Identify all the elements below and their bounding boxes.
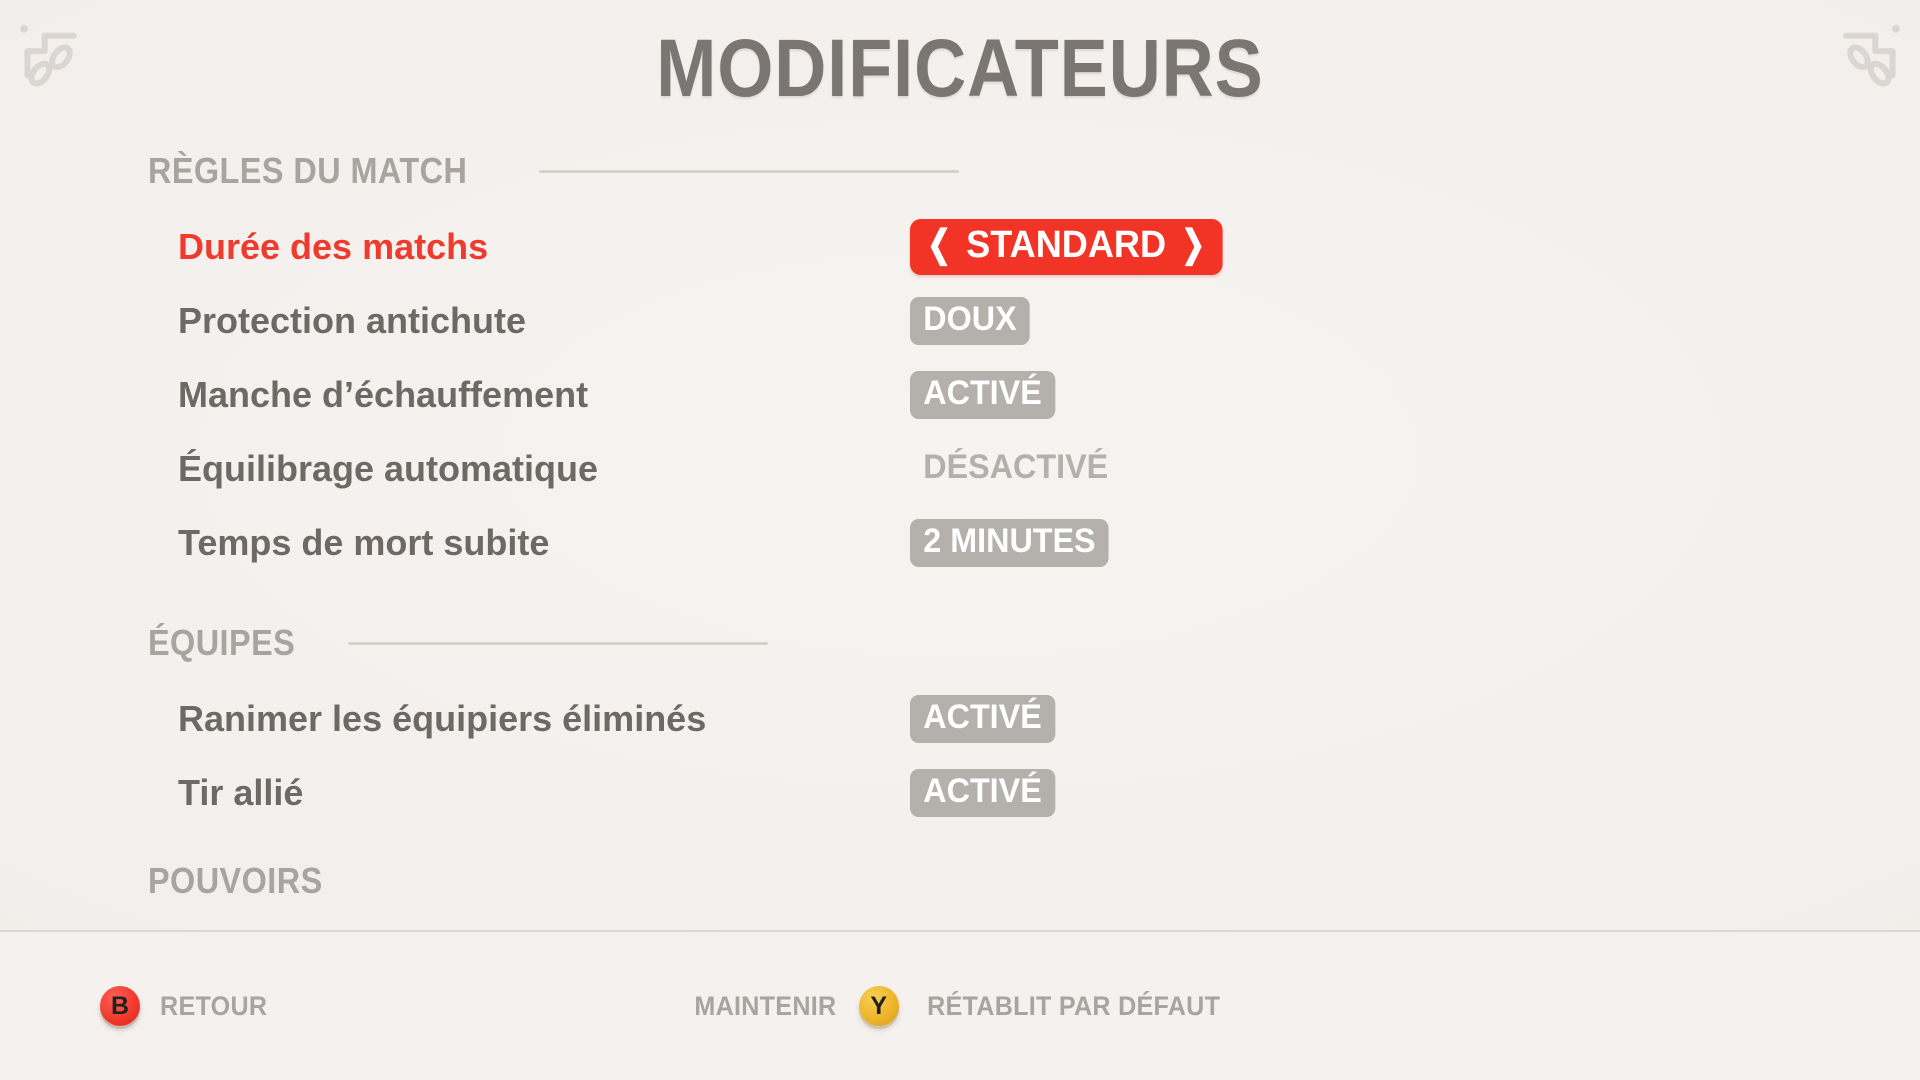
setting-row-warmup-round[interactable]: Manche d’échauffement ACTIVÉ bbox=[0, 358, 1920, 432]
settings-scroll-viewport[interactable]: RÈGLES DU MATCH Durée des matchs ❮ STAND… bbox=[0, 150, 1920, 930]
chevron-left-icon[interactable]: ❮ bbox=[927, 227, 951, 265]
corner-ornament-top-right bbox=[1822, 10, 1908, 96]
section-divider bbox=[539, 170, 959, 173]
button-y-icon[interactable]: Y bbox=[859, 986, 899, 1026]
section-title-teams: ÉQUIPES bbox=[148, 622, 295, 664]
section-title-match-rules: RÈGLES DU MATCH bbox=[148, 150, 467, 192]
section-header-match-rules: RÈGLES DU MATCH bbox=[0, 150, 1920, 192]
section-title-powers: POUVOIRS bbox=[148, 860, 1743, 902]
section-divider bbox=[348, 642, 768, 645]
setting-label: Tir allié bbox=[178, 772, 910, 814]
setting-label: Équilibrage automatique bbox=[178, 448, 910, 490]
setting-row-sudden-death-time[interactable]: Temps de mort subite 2 MINUTES bbox=[0, 506, 1920, 580]
section-powers-clipped: POUVOIRS bbox=[0, 860, 1920, 902]
setting-row-match-duration[interactable]: Durée des matchs ❮ STANDARD ❯ bbox=[0, 210, 1920, 284]
setting-value[interactable]: 2 MINUTES bbox=[910, 519, 1109, 566]
footer-action-back[interactable]: B RETOUR bbox=[100, 986, 271, 1026]
section-teams: ÉQUIPES Ranimer les équipiers éliminés A… bbox=[0, 622, 1920, 830]
section-header-teams: ÉQUIPES bbox=[0, 622, 1920, 664]
setting-row-auto-balance[interactable]: Équilibrage automatique DÉSACTIVÉ bbox=[0, 432, 1920, 506]
setting-value[interactable]: ACTIVÉ bbox=[910, 769, 1055, 816]
footer-back-label: RETOUR bbox=[160, 991, 267, 1022]
setting-value-text: STANDARD bbox=[966, 225, 1166, 265]
page-title: MODIFICATEURS bbox=[115, 22, 1805, 116]
setting-value[interactable]: ACTIVÉ bbox=[910, 371, 1055, 418]
setting-row-friendly-fire[interactable]: Tir allié ACTIVÉ bbox=[0, 756, 1920, 830]
setting-value[interactable]: ACTIVÉ bbox=[910, 695, 1055, 742]
setting-label: Manche d’échauffement bbox=[178, 374, 910, 416]
setting-row-fall-protection[interactable]: Protection antichute DOUX bbox=[0, 284, 1920, 358]
section-match-rules: RÈGLES DU MATCH Durée des matchs ❮ STAND… bbox=[0, 150, 1920, 580]
setting-label: Temps de mort subite bbox=[178, 522, 910, 564]
setting-label: Durée des matchs bbox=[178, 226, 910, 268]
setting-value[interactable]: DOUX bbox=[910, 297, 1030, 344]
setting-value[interactable]: DÉSACTIVÉ bbox=[910, 445, 1121, 492]
setting-label: Protection antichute bbox=[178, 300, 910, 342]
corner-ornament-top-left bbox=[12, 10, 98, 96]
setting-value-stepper[interactable]: ❮ STANDARD ❯ bbox=[910, 219, 1222, 274]
button-b-icon[interactable]: B bbox=[100, 986, 140, 1026]
footer-bar: B RETOUR MAINTENIR Y RÉTABLIT PAR DÉFAUT bbox=[0, 932, 1920, 1080]
footer-hold-prefix: MAINTENIR bbox=[694, 991, 836, 1022]
setting-label: Ranimer les équipiers éliminés bbox=[178, 698, 910, 740]
setting-row-revive-teammates[interactable]: Ranimer les équipiers éliminés ACTIVÉ bbox=[0, 682, 1920, 756]
footer-reset-label: RÉTABLIT PAR DÉFAUT bbox=[927, 991, 1220, 1022]
footer-action-reset[interactable]: MAINTENIR Y RÉTABLIT PAR DÉFAUT bbox=[689, 986, 1231, 1026]
chevron-right-icon[interactable]: ❯ bbox=[1181, 227, 1205, 265]
